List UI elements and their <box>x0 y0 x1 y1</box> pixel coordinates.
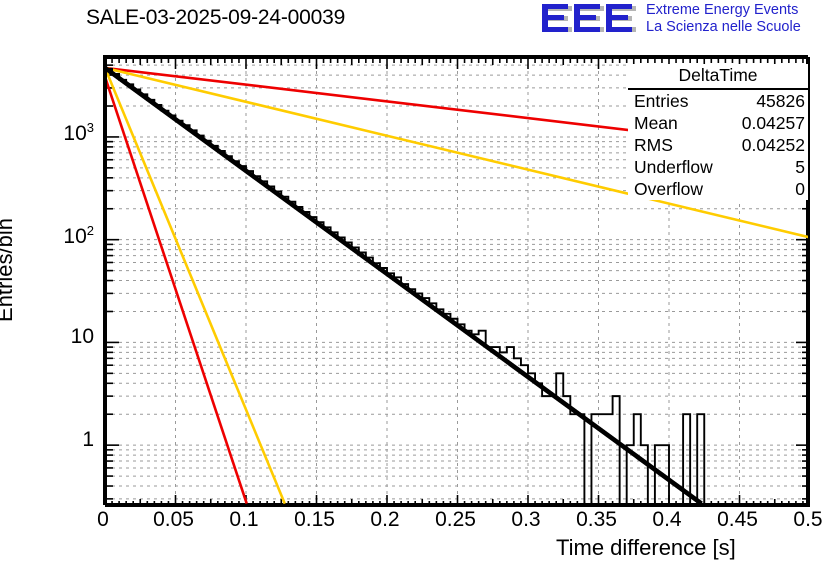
eee-logo: Extreme Energy Events La Scienza nelle S… <box>540 2 832 38</box>
x-tick-label: 0.15 <box>275 508 355 532</box>
eee-logo-line2: La Scienza nelle Scuole <box>646 19 801 36</box>
stats-row-key: Mean <box>634 113 678 133</box>
x-tick-label: 0.5 <box>768 508 836 532</box>
x-tick-label: 0.3 <box>486 508 566 532</box>
x-tick-label: 0.35 <box>557 508 637 532</box>
y-tick-label: 10 <box>30 325 94 349</box>
eee-logo-line1: Extreme Energy Events <box>646 2 801 19</box>
stats-row-value: 0.04257 <box>742 113 805 133</box>
stats-box-title: DeltaTime <box>628 64 808 90</box>
page-title: SALE-03-2025-09-24-00039 <box>86 6 345 30</box>
stats-row-key: Entries <box>634 91 688 111</box>
y-tick-label: 102 <box>30 223 94 249</box>
x-tick-label: 0.2 <box>345 508 425 532</box>
stats-row-value: 5 <box>795 157 805 177</box>
stats-row-value: 45826 <box>756 91 805 111</box>
x-tick-label: 0.4 <box>627 508 707 532</box>
y-axis-title: Entries/bin <box>0 150 18 390</box>
series-line-steep-red <box>105 77 247 504</box>
x-tick-label: 0.1 <box>204 508 284 532</box>
stats-row: RMS0.04252 <box>628 134 808 156</box>
x-tick-label: 0.05 <box>134 508 214 532</box>
stats-row-key: Overflow <box>634 179 703 199</box>
stats-row-key: RMS <box>634 135 673 155</box>
stats-row-value: 0.04252 <box>742 135 805 155</box>
x-axis-title: Time difference [s] <box>556 535 736 561</box>
stats-row: Mean0.04257 <box>628 112 808 134</box>
y-tick-label: 1 <box>30 428 94 452</box>
stats-box-rows: Entries45826Mean0.04257RMS0.04252Underfl… <box>628 90 808 200</box>
stats-row: Entries45826 <box>628 90 808 112</box>
x-tick-label: 0.25 <box>416 508 496 532</box>
stats-row-key: Underflow <box>634 157 713 177</box>
eee-logo-text: Extreme Energy Events La Scienza nelle S… <box>646 2 801 36</box>
stats-row: Overflow0 <box>628 178 808 200</box>
x-tick-label: 0 <box>63 508 143 532</box>
stats-box: DeltaTime Entries45826Mean0.04257RMS0.04… <box>628 64 808 200</box>
stats-row: Underflow5 <box>628 156 808 178</box>
y-tick-label: 103 <box>30 120 94 146</box>
eee-logo-mark <box>540 2 640 36</box>
x-tick-label: 0.45 <box>698 508 778 532</box>
stats-row-value: 0 <box>795 179 805 199</box>
